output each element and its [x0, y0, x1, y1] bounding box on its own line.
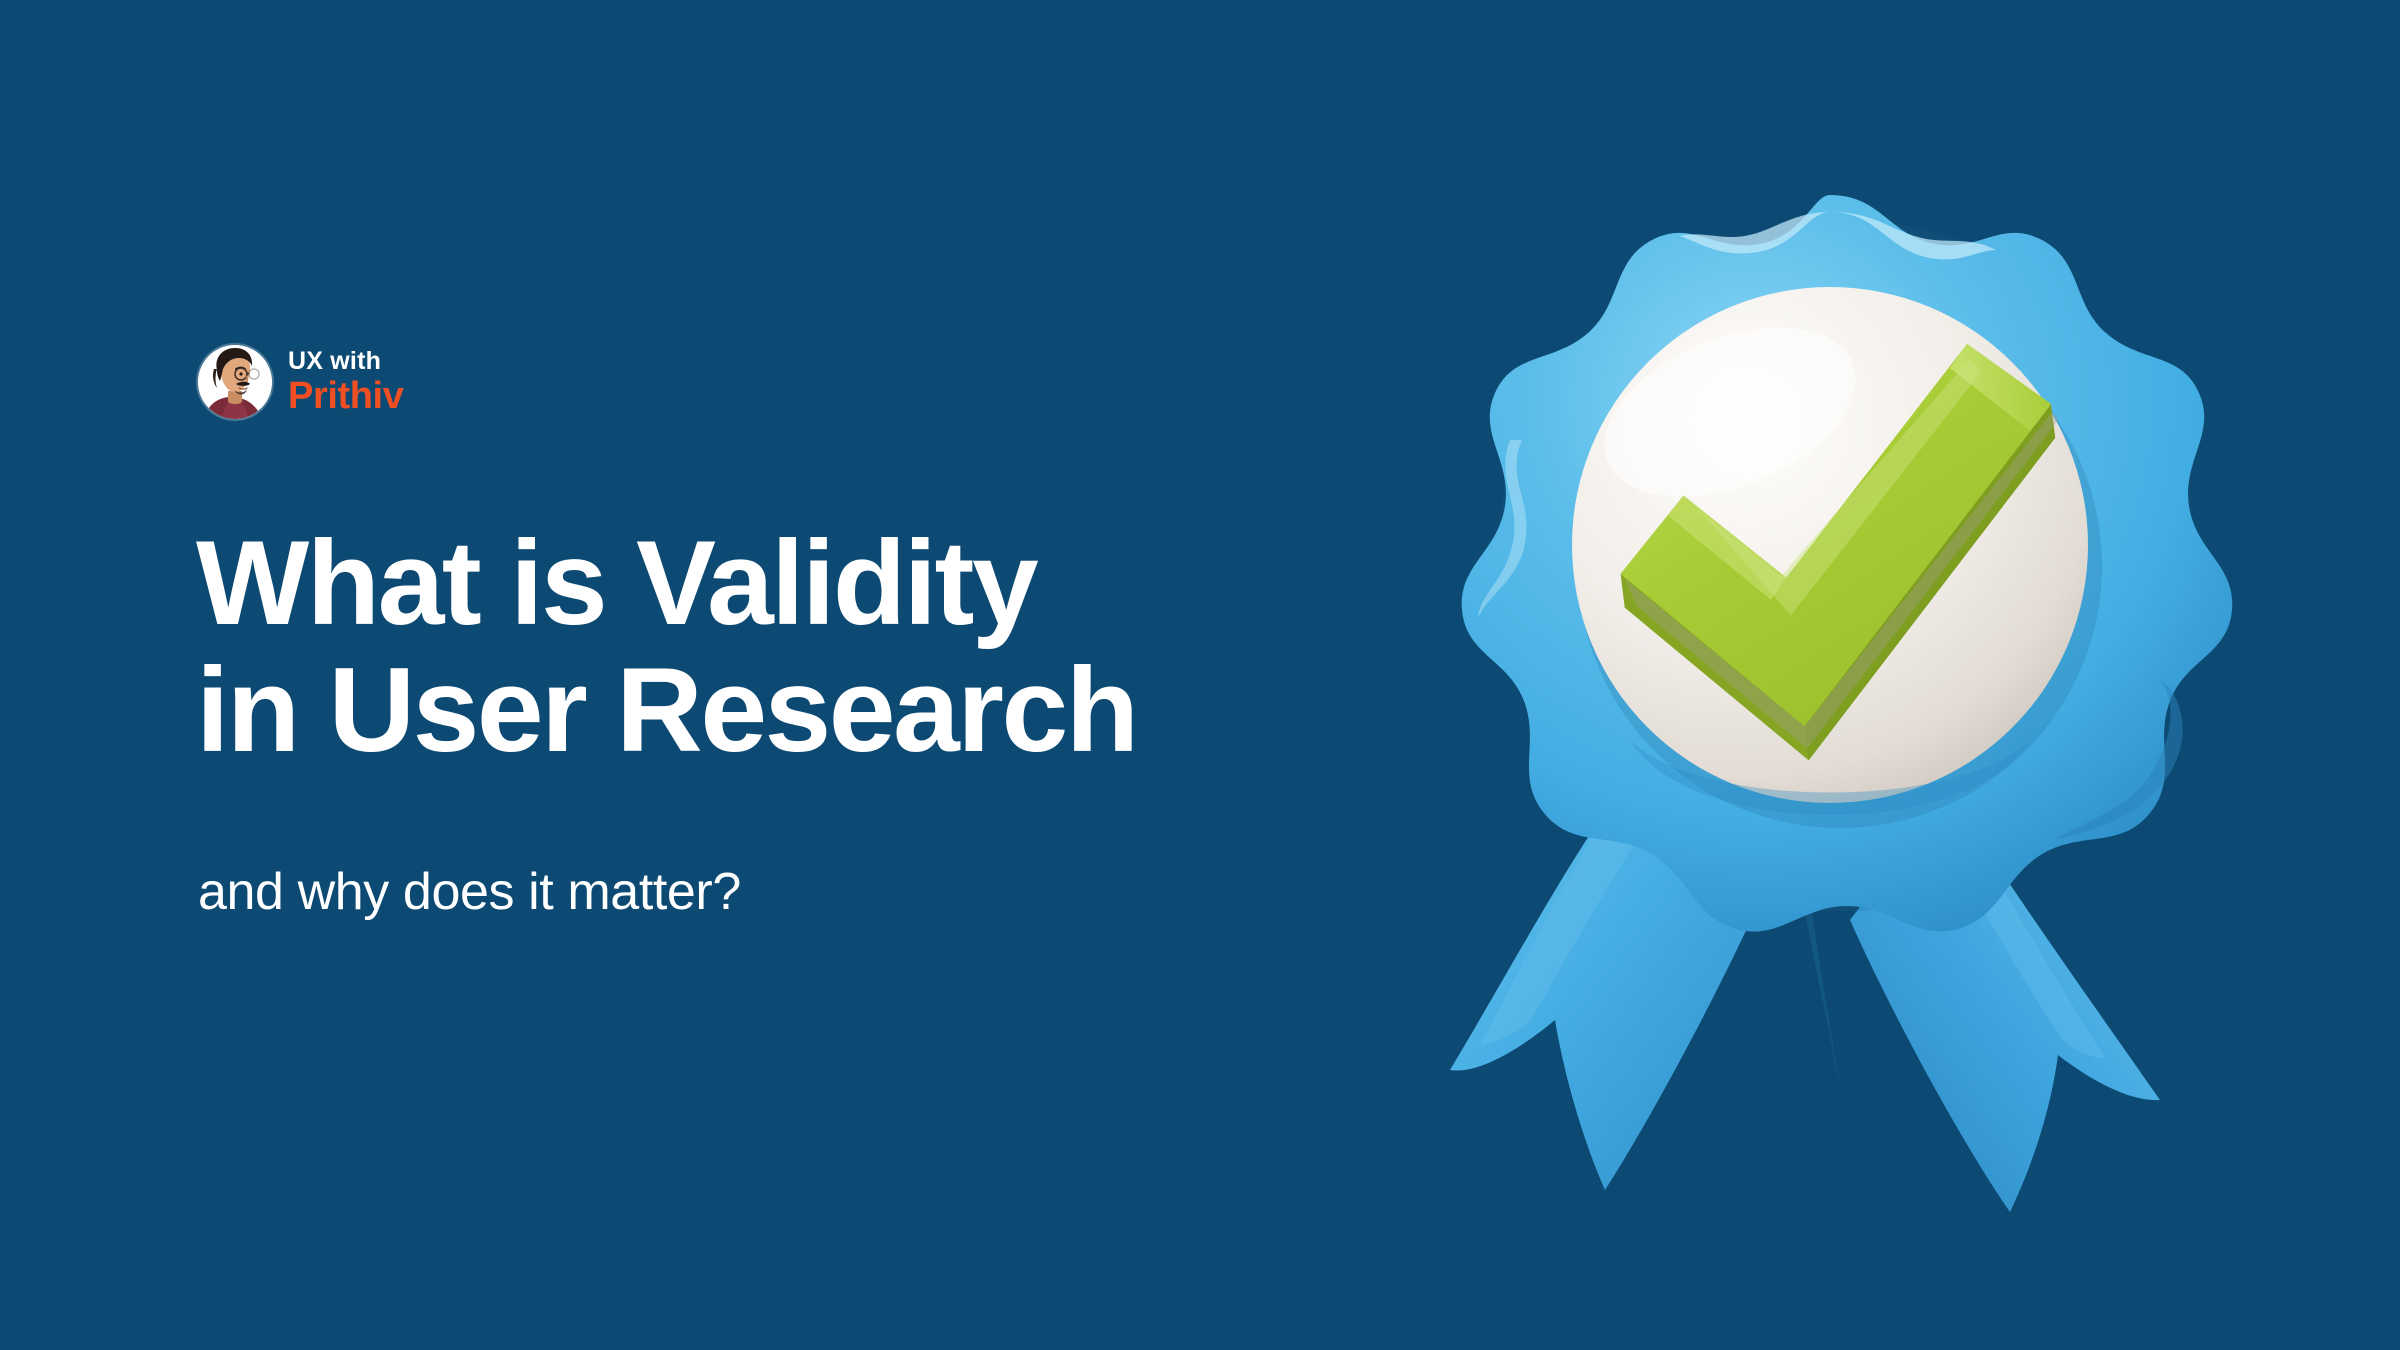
award-badge-icon	[1330, 140, 2330, 1280]
brand-line-prithiv: Prithiv	[288, 377, 403, 415]
brand-text: UX with Prithiv	[288, 349, 403, 415]
page-title-line-1: What is Validity	[196, 520, 1416, 647]
avatar	[198, 345, 272, 419]
page-title-line-2: in User Research	[196, 647, 1416, 774]
page-subtitle: and why does it matter?	[198, 862, 741, 922]
page-title: What is Validity in User Research	[196, 520, 1416, 774]
brand-lockup: UX with Prithiv	[198, 345, 403, 419]
poster-canvas: UX with Prithiv What is Validity in User…	[0, 0, 2400, 1350]
brand-line-ux-with: UX with	[288, 349, 403, 374]
